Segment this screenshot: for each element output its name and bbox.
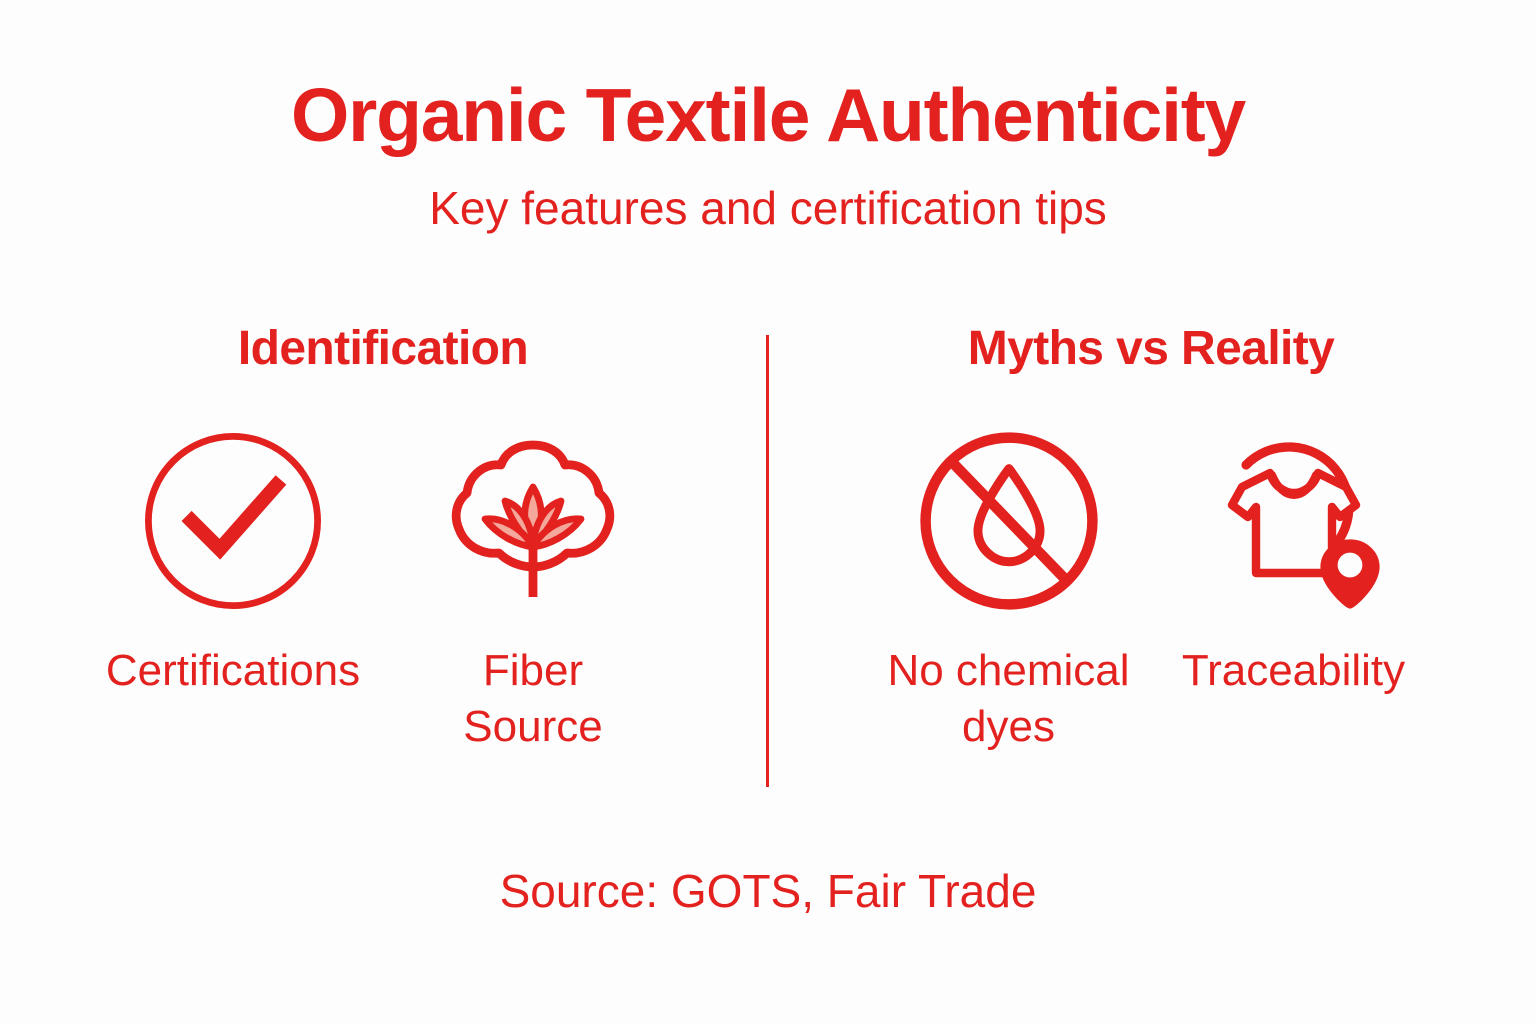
item-label-traceability: Traceability [1182,643,1405,699]
page-subtitle: Key features and certification tips [0,153,1536,231]
item-label-certifications: Certifications [106,643,360,699]
column-myths-vs-reality: Myths vs Reality No chemical dyes [766,325,1536,795]
no-chemical-droplet-icon [909,421,1109,621]
item-label-line-1: Fiber [483,646,583,695]
poster-header: Organic Textile Authenticity Key feature… [0,78,1536,231]
check-circle-icon [133,421,333,621]
column-divider [766,335,769,787]
infographic-poster: Organic Textile Authenticity Key feature… [0,0,1536,1024]
item-label-line-2: dyes [962,702,1055,751]
item-certifications[interactable]: Certifications [83,421,383,699]
myths-items: No chemical dyes [766,421,1536,755]
identification-items: Certifications [0,421,766,755]
tshirt-location-pin-icon [1194,421,1394,621]
column-heading-myths: Myths vs Reality [968,325,1335,373]
item-label-fiber-source: Fiber Source [463,643,602,755]
item-fiber-source[interactable]: Fiber Source [383,421,683,755]
item-traceability[interactable]: Traceability [1151,421,1436,699]
item-no-chemical-dyes[interactable]: No chemical dyes [866,421,1151,755]
item-label-line-2: Source [463,702,602,751]
cotton-boll-icon [433,421,633,621]
column-heading-identification: Identification [238,325,528,373]
poster-footer: Source: GOTS, Fair Trade [0,868,1536,914]
source-text: Source: GOTS, Fair Trade [0,868,1536,914]
page-title: Organic Textile Authenticity [0,78,1536,153]
item-label-line-1: No chemical [887,646,1129,695]
column-identification: Identification Certifications [0,325,766,795]
item-label-no-chemical-dyes: No chemical dyes [887,643,1129,755]
